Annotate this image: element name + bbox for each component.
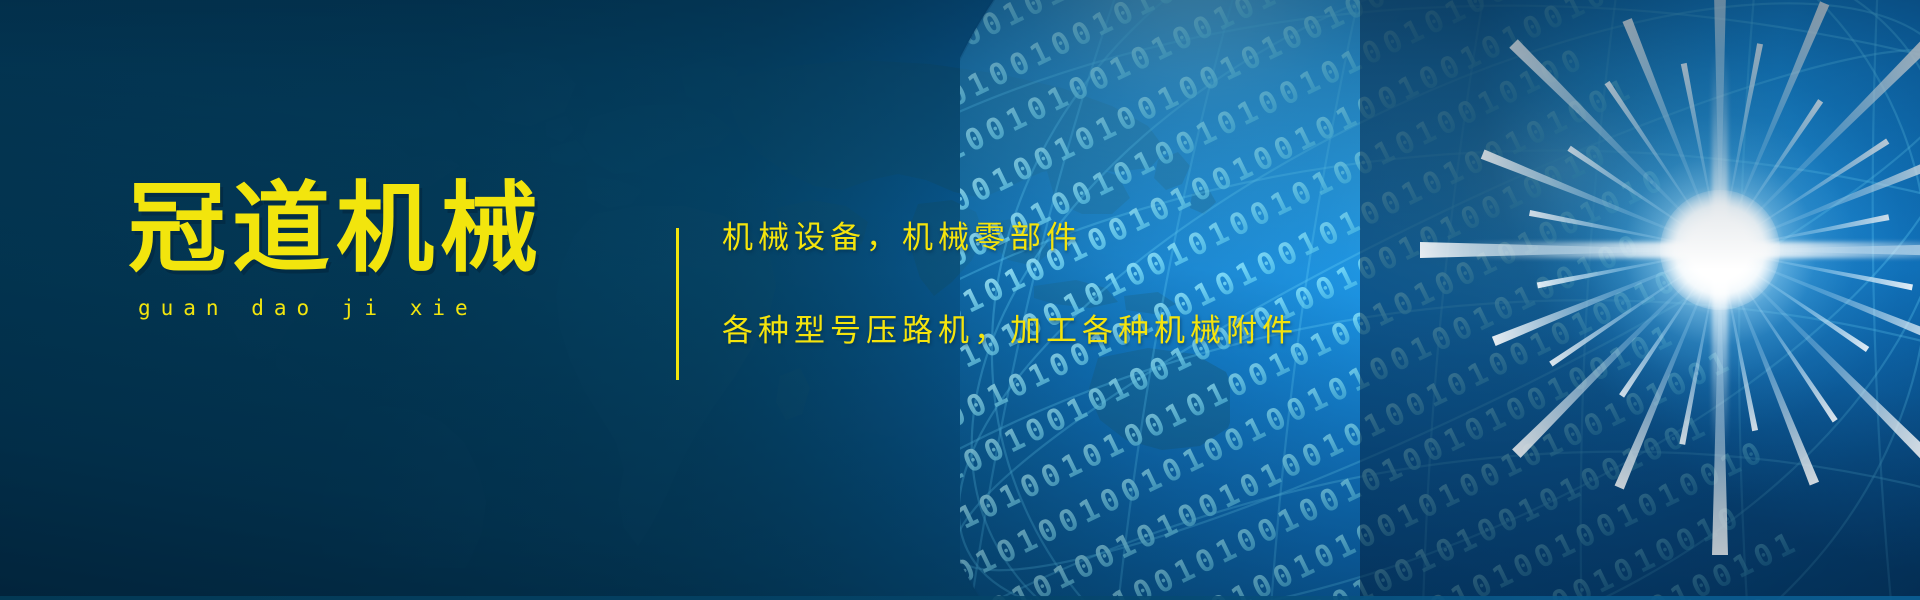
company-name-cn: 冠道机械 <box>128 180 648 278</box>
tagline-group: 机械设备，机械零部件 各种型号压路机，加工各种机械附件 <box>722 190 1298 350</box>
bottom-edge-strip <box>0 596 1920 600</box>
company-name-pinyin: guan dao ji xie <box>138 296 648 320</box>
company-logo: 冠道机械 guan dao ji xie <box>128 180 648 320</box>
tagline-line-2: 各种型号压路机，加工各种机械附件 <box>722 305 1298 350</box>
tagline-line-1: 机械设备，机械零部件 <box>722 212 1298 257</box>
promo-banner: 0100101001010010100101001010010100101001… <box>0 0 1920 600</box>
banner-content: 冠道机械 guan dao ji xie 机械设备，机械零部件 各种型号压路机，… <box>0 0 1400 600</box>
vertical-divider <box>676 228 679 380</box>
